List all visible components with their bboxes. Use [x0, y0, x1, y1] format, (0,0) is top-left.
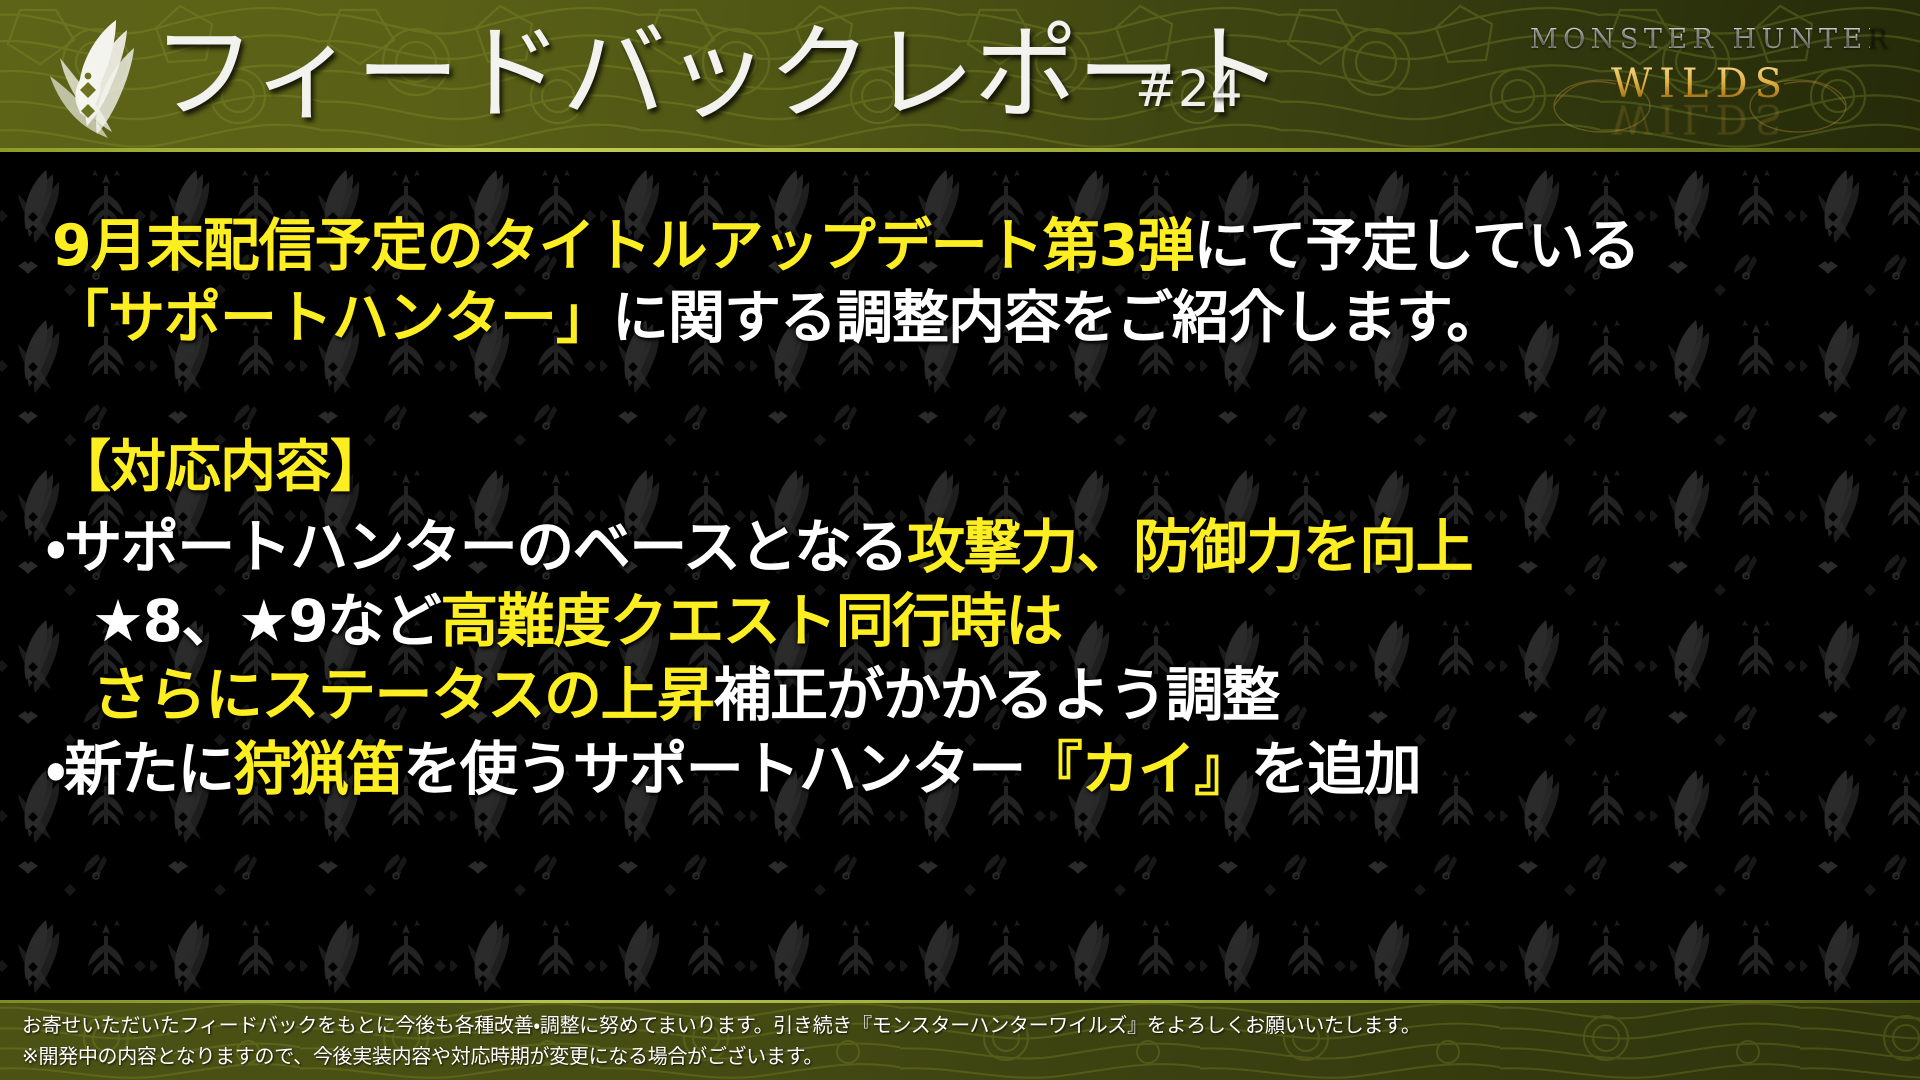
- footer-line-2: ※開発中の内容となりますので、今後実装内容や対応時期が変更になる場合がございます…: [22, 1043, 1920, 1070]
- bullet-marker: ・: [46, 735, 64, 803]
- bullet-1-part-4: を追加: [1251, 735, 1421, 803]
- bullet-1-part-1: 狩猟笛: [234, 735, 404, 803]
- slide-root: フィードバックレポート #24 MONSTER HUNTER WILDS WIL…: [0, 0, 1920, 1080]
- logo-wilds-reflection: WILDS: [1530, 95, 1870, 141]
- bullet-0-sub-0-part-0: ★8、★9など: [92, 587, 440, 655]
- intro-line1-highlight: 9月末配信予定のタイトルアップデート第3弾: [52, 213, 1193, 279]
- intro-line2-rest: に関する調整内容をご紹介します。: [612, 285, 1502, 351]
- bullet-subline: さらにステータスの上昇補正がかかるよう調整: [46, 658, 1846, 732]
- footer-line-1: お寄せいただいたフィードバックをもとに今後も各種改善・調整に努めてまいります。引…: [22, 1012, 1920, 1039]
- bullet-item: ・サポートハンターのベースとなる攻撃力、防御力を向上: [46, 510, 1846, 584]
- bullet-0-sub-1-part-0: さらにステータスの上昇: [92, 661, 714, 729]
- logo-monster-hunter-text: MONSTER HUNTER: [1530, 24, 1870, 55]
- monster-hunter-feather-emblem-icon: [30, 14, 156, 140]
- body-content: 9月末配信予定のタイトルアップデート第3弾にて予定している 「サポートハンター」…: [0, 152, 1920, 1018]
- bullet-list: ・サポートハンターのベースとなる攻撃力、防御力を向上★8、★9など高難度クエスト…: [46, 510, 1846, 806]
- bullet-1-part-0: 新たに: [64, 735, 234, 803]
- bullet-0-sub-0-part-1: 高難度クエスト同行時は: [440, 587, 1062, 655]
- bullet-marker: ・: [46, 513, 64, 581]
- issue-number: #24: [1135, 60, 1244, 118]
- page-title: フィードバックレポート: [152, 8, 1283, 138]
- bullet-0-part-1: 攻撃力、防御力を向上: [907, 513, 1472, 581]
- bullet-item: ・新たに狩猟笛を使うサポートハンター『カイ』を追加: [46, 732, 1846, 806]
- intro-line2-highlight: 「サポートハンター」: [52, 285, 612, 351]
- bullet-subline: ★8、★9など高難度クエスト同行時は: [46, 584, 1846, 658]
- bullet-1-part-2: を使うサポートハンター: [403, 735, 1025, 803]
- bullet-1-part-3: 『カイ』: [1025, 735, 1251, 803]
- intro-line1-rest: にて予定している: [1193, 213, 1639, 279]
- header-band: フィードバックレポート #24 MONSTER HUNTER WILDS WIL…: [0, 0, 1920, 152]
- bullet-0-sub-1-part-1: 補正がかかるよう調整: [714, 661, 1279, 729]
- intro-paragraph: 9月末配信予定のタイトルアップデート第3弾にて予定している 「サポートハンター」…: [52, 210, 1812, 354]
- section-heading: 【対応内容】: [55, 435, 385, 501]
- monster-hunter-wilds-logo: MONSTER HUNTER WILDS WILDS: [1530, 24, 1870, 134]
- bullet-0-part-0: サポートハンターのベースとなる: [64, 513, 907, 581]
- footer-band: お寄せいただいたフィードバックをもとに今後も各種改善・調整に努めてまいります。引…: [0, 1000, 1920, 1080]
